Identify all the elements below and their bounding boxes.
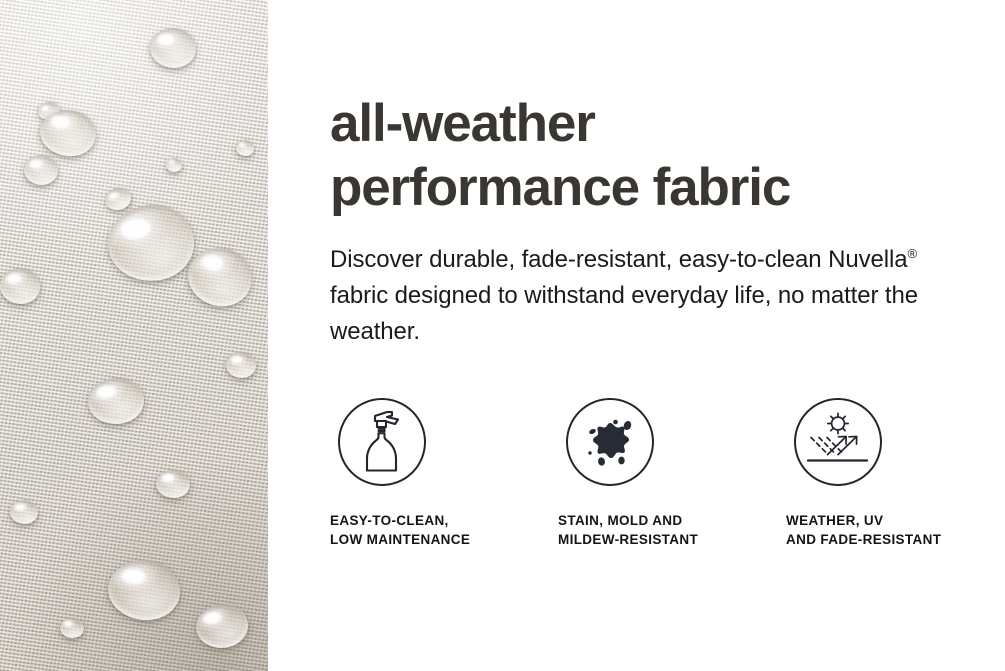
- stain-splatter-icon: [566, 398, 654, 486]
- fabric-photo: [0, 0, 268, 671]
- water-droplet: [236, 140, 254, 156]
- spray-bottle-icon: [338, 398, 426, 486]
- subcopy-paragraph: Discover durable, fade-resistant, easy-t…: [330, 242, 955, 350]
- water-droplet: [24, 155, 58, 185]
- water-droplet: [150, 28, 196, 68]
- promo-banner: all-weather performance fabric Discover …: [0, 0, 1005, 671]
- feature-caption: STAIN, MOLD AND MILDEW-RESISTANT: [558, 511, 788, 549]
- feature-list: EASY-TO-CLEAN, LOW MAINTENANCE STAIN, M: [330, 398, 1005, 578]
- water-droplet: [156, 470, 190, 498]
- feature-item-easy-to-clean: EASY-TO-CLEAN, LOW MAINTENANCE: [330, 398, 560, 549]
- sun-uv-reflect-icon: [794, 398, 882, 486]
- content-panel: all-weather performance fabric Discover …: [268, 0, 1005, 671]
- page-title: all-weather performance fabric: [330, 92, 790, 220]
- feature-item-weather-resistant: WEATHER, UV AND FADE-RESISTANT: [786, 398, 1005, 549]
- water-droplet: [10, 500, 38, 524]
- water-droplet: [60, 618, 84, 638]
- subcopy-line-1: Discover durable, fade-resistant, easy-t…: [330, 246, 822, 273]
- feature-caption: EASY-TO-CLEAN, LOW MAINTENANCE: [330, 511, 560, 549]
- feature-item-stain-resistant: STAIN, MOLD AND MILDEW-RESISTANT: [558, 398, 788, 549]
- water-droplet: [0, 268, 40, 304]
- subcopy-line-2: fabric designed to withstand everyday li…: [330, 282, 771, 309]
- brand-name-nuvella: Nuvella: [828, 246, 907, 273]
- feature-caption: WEATHER, UV AND FADE-RESISTANT: [786, 511, 1005, 549]
- water-droplet: [166, 158, 182, 172]
- registered-trademark-icon: ®: [907, 246, 916, 261]
- water-droplet: [226, 352, 256, 378]
